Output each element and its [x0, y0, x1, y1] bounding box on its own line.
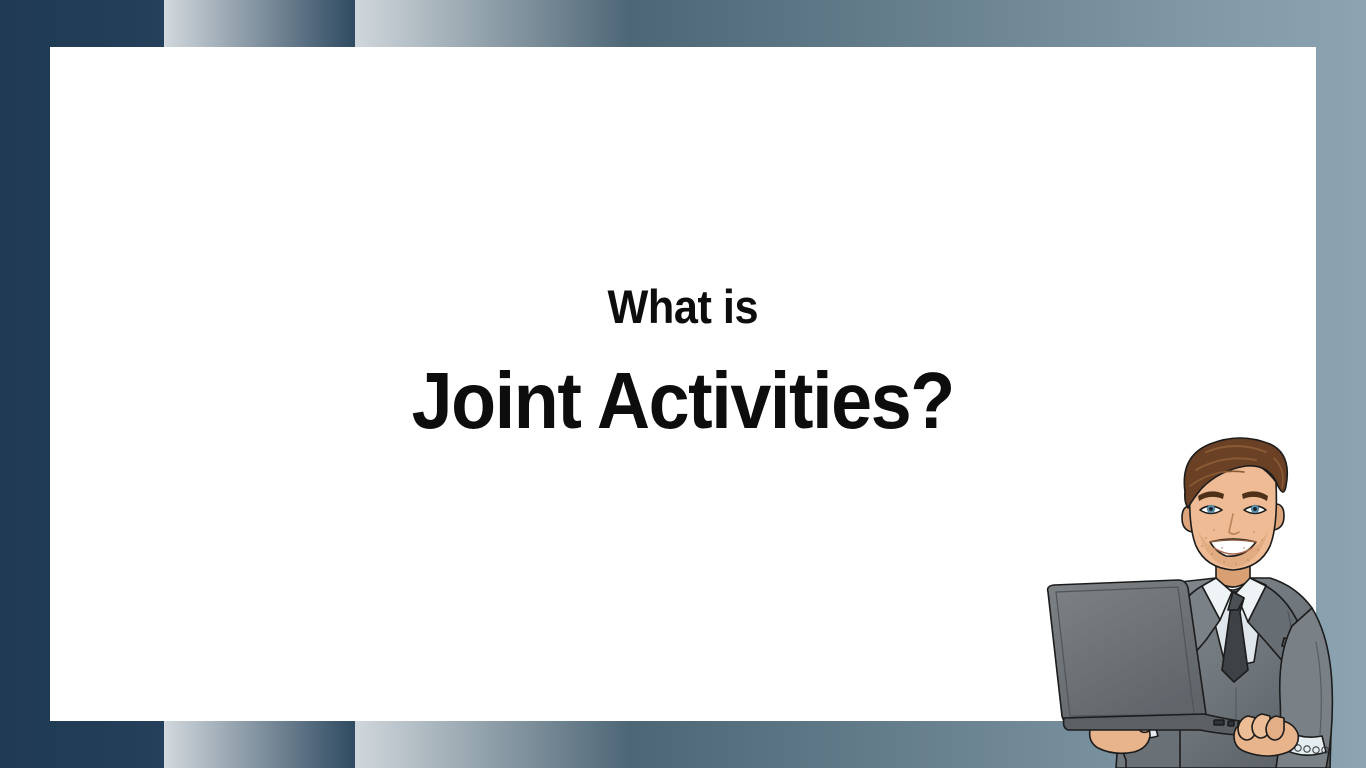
slide-content-card: What is Joint Activities? — [50, 47, 1316, 721]
slide-eyebrow-text: What is — [608, 282, 759, 331]
title-block: What is Joint Activities? — [50, 47, 1316, 721]
slide-headline-text: Joint Activities? — [412, 359, 954, 443]
presentation-slide: What is Joint Activities? — [0, 0, 1366, 768]
